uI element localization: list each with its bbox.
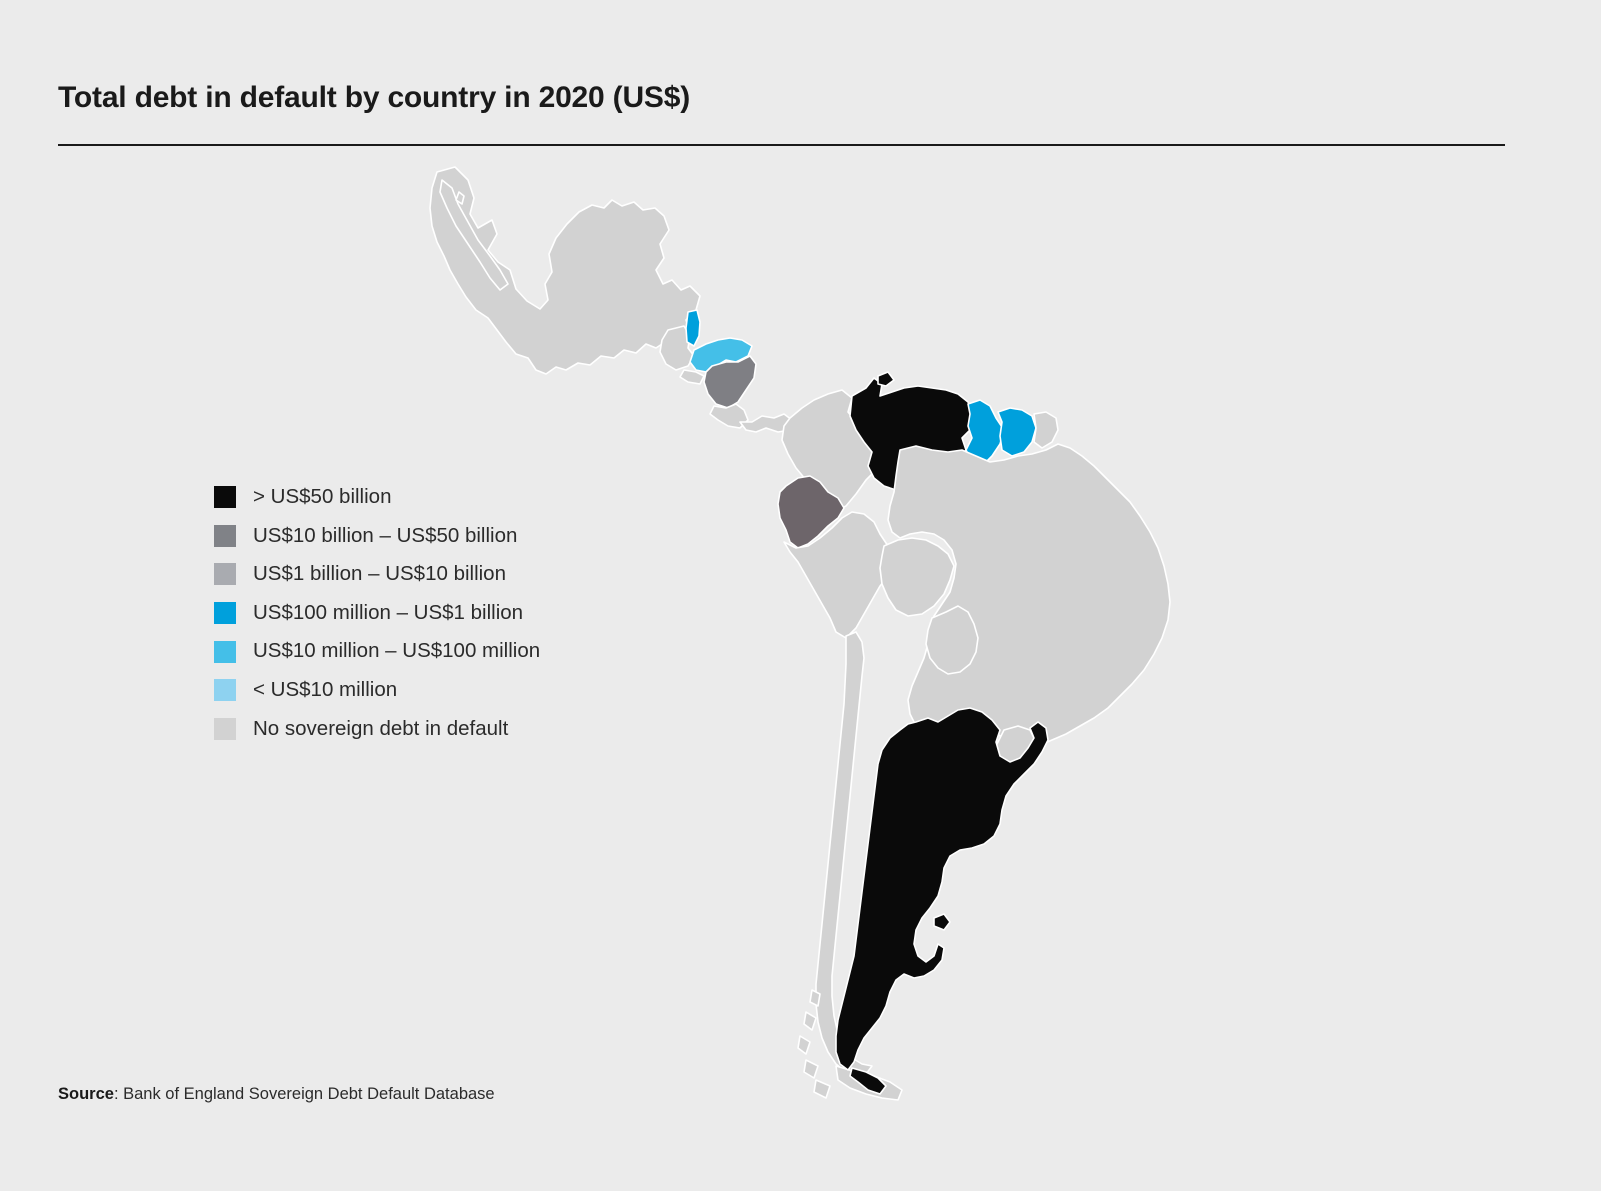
legend-label-no-default: No sovereign debt in default [253, 719, 508, 740]
country-mexico[interactable] [430, 167, 700, 374]
chile-archipelago-2 [804, 1012, 816, 1030]
source-label: Source [58, 1085, 114, 1103]
legend-label-10m-100m: US$10 million – US$100 million [253, 641, 540, 662]
legend-label-under-10m: < US$10 million [253, 680, 397, 701]
chile-archipelago-3 [798, 1036, 810, 1054]
legend-swatch-icon-10m-100m [214, 641, 236, 663]
source-text: Bank of England Sovereign Debt Default D… [123, 1085, 495, 1103]
argentina-coastal-notch [934, 914, 950, 930]
legend-label-100m-1bn: US$100 million – US$1 billion [253, 603, 523, 624]
legend-label-10bn-50bn: US$10 billion – US$50 billion [253, 526, 517, 547]
legend-swatch-icon-100m-1bn [214, 602, 236, 624]
chile-archipelago-1 [810, 990, 820, 1006]
legend-swatch-icon-under-10m [214, 679, 236, 701]
legend-swatch-icon-no-default [214, 718, 236, 740]
country-belize[interactable] [686, 310, 700, 346]
legend-label-1bn-10bn: US$1 billion – US$10 billion [253, 564, 506, 585]
country-argentina[interactable] [836, 708, 1048, 1070]
legend-item-under-10m[interactable]: < US$10 million [214, 671, 540, 710]
source-separator: : [114, 1085, 123, 1103]
country-el-salvador[interactable] [680, 370, 704, 384]
country-suriname[interactable] [998, 408, 1036, 456]
legend-item-no-default[interactable]: No sovereign debt in default [214, 710, 540, 749]
legend-swatch-icon-over-50bn [214, 486, 236, 508]
country-french-guiana[interactable] [1034, 412, 1058, 448]
legend-item-10bn-50bn[interactable]: US$10 billion – US$50 billion [214, 517, 540, 556]
title-divider [58, 144, 1505, 146]
page-title: Total debt in default by country in 2020… [58, 80, 1505, 116]
chile-archipelago-4 [804, 1060, 818, 1078]
legend-item-100m-1bn[interactable]: US$100 million – US$1 billion [214, 594, 540, 633]
legend-item-1bn-10bn[interactable]: US$1 billion – US$10 billion [214, 555, 540, 594]
legend-item-10m-100m[interactable]: US$10 million – US$100 million [214, 632, 540, 671]
venezuela-north-tip [878, 372, 894, 386]
chile-archipelago-5 [814, 1080, 830, 1098]
map-legend: > US$50 billion US$10 billion – US$50 bi… [214, 478, 540, 748]
legend-item-over-50bn[interactable]: > US$50 billion [214, 478, 540, 517]
title-block: Total debt in default by country in 2020… [58, 80, 1505, 116]
legend-swatch-icon-1bn-10bn [214, 563, 236, 585]
legend-label-over-50bn: > US$50 billion [253, 487, 391, 508]
source-note: Source: Bank of England Sovereign Debt D… [58, 1085, 495, 1104]
legend-swatch-icon-10bn-50bn [214, 525, 236, 547]
